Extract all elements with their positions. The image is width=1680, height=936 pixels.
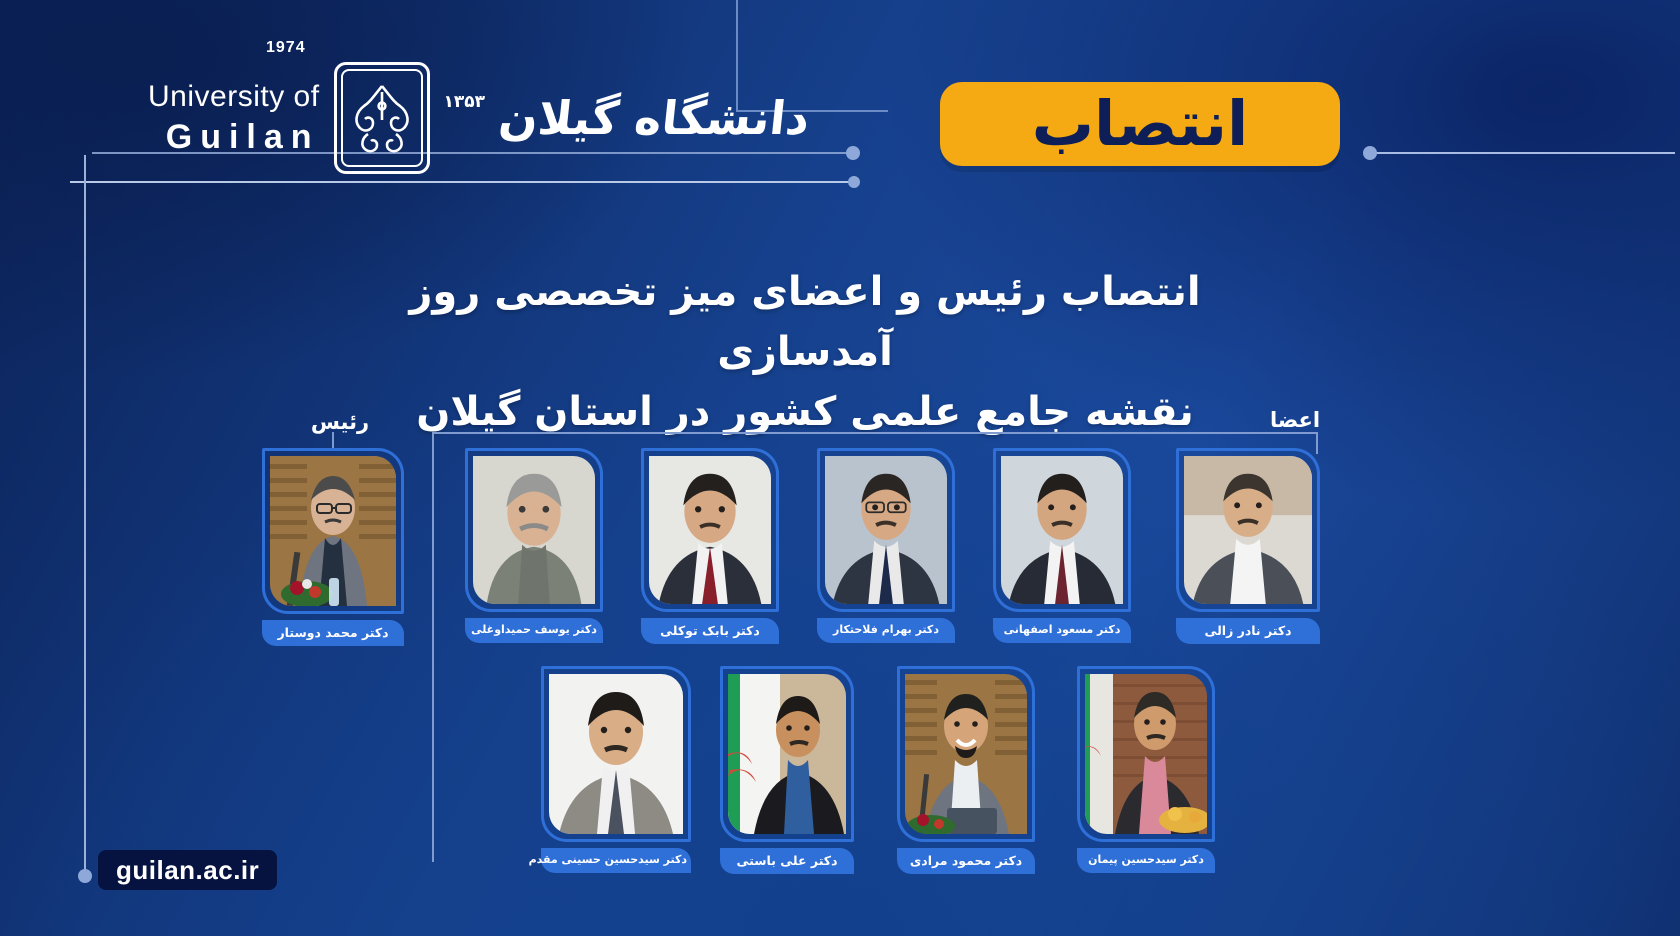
person-photo [825, 456, 947, 604]
logo-line-university-of: University of [148, 82, 320, 112]
person-card-member-2: دکتر بابک توکلی [641, 448, 779, 644]
person-photo [473, 456, 595, 604]
person-card-chair: دکتر محمد دوستار [262, 448, 404, 646]
logo-english-text: 1974 University of Guilan [148, 82, 320, 154]
section-label-chair: رئیس [290, 410, 390, 434]
person-photo-frame [1077, 666, 1215, 842]
person-card-member-1: دکتر یوسف حمیداوغلی [465, 448, 603, 643]
website-url-badge[interactable]: guilan.ac.ir [98, 850, 277, 890]
decor-dot-2 [848, 176, 860, 188]
person-photo [1184, 456, 1312, 604]
logo-line-guilan: Guilan [148, 120, 320, 154]
person-name-member-4: دکتر مسعود اصفهانی [993, 618, 1131, 643]
person-name-member-2: دکتر بابک توکلی [641, 618, 779, 644]
person-name-chair: دکتر محمد دوستار [262, 620, 404, 646]
person-photo-frame [641, 448, 779, 612]
page-title-line-1: انتصاب رئیس و اعضای میز تخصصی روز آمدساز… [330, 262, 1280, 382]
person-photo [270, 456, 396, 606]
decor-line-right [1375, 152, 1675, 154]
announcement-badge-label: انتصاب [1032, 93, 1249, 155]
person-photo [649, 456, 771, 604]
person-name-member-3: دکتر بهرام فلاحتکار [817, 618, 955, 643]
person-photo-frame [897, 666, 1035, 842]
person-photo-frame [262, 448, 404, 614]
person-card-member-4: دکتر مسعود اصفهانی [993, 448, 1131, 643]
person-photo-frame [1176, 448, 1320, 612]
person-photo [1085, 674, 1207, 834]
person-photo [905, 674, 1027, 834]
person-card-member-6: دکتر سیدحسین حسینی مقدم [541, 666, 691, 873]
person-name-member-7: دکتر علی باستی [720, 848, 854, 874]
person-card-member-8: دکتر محمود مرادی [897, 666, 1035, 874]
person-photo-frame [720, 666, 854, 842]
person-name-member-1: دکتر یوسف حمیداوغلی [465, 618, 603, 643]
person-photo [549, 674, 683, 834]
logo-persian-name: دانشگاه گیلان [497, 95, 812, 141]
person-photo [1001, 456, 1123, 604]
page-title: انتصاب رئیس و اعضای میز تخصصی روز آمدساز… [330, 262, 1280, 442]
decor-line-horizontal-1 [70, 181, 850, 183]
person-photo [728, 674, 846, 834]
logo-year-en: 1974 [266, 40, 306, 56]
section-label-members: اعضا [1240, 408, 1350, 432]
person-name-member-5: دکتر نادر زالی [1176, 618, 1320, 644]
decor-dot-right [1363, 146, 1377, 160]
person-photo-frame [465, 448, 603, 612]
decor-line-vertical-left [84, 155, 86, 845]
person-name-member-8: دکتر محمود مرادی [897, 848, 1035, 874]
person-card-member-3: دکتر بهرام فلاحتکار [817, 448, 955, 643]
person-name-member-9: دکتر سیدحسین پیمان [1077, 848, 1215, 873]
person-card-member-9: دکتر سیدحسین پیمان [1077, 666, 1215, 873]
person-photo-frame [541, 666, 691, 842]
university-logo: 1974 University of Guilan ۱۳۵۳ دانشگاه گ… [148, 62, 813, 174]
members-bracket-top [432, 432, 1318, 434]
guilan-emblem-icon [334, 62, 430, 174]
members-bracket-left [432, 432, 434, 862]
announcement-badge: انتصاب [940, 82, 1340, 166]
logo-year-fa: ۱۳۵۳ [444, 92, 486, 112]
person-photo-frame [993, 448, 1131, 612]
announcement-poster: 1974 University of Guilan ۱۳۵۳ دانشگاه گ… [0, 0, 1680, 936]
person-photo-frame [817, 448, 955, 612]
person-card-member-5: دکتر نادر زالی [1176, 448, 1320, 644]
person-card-member-7: دکتر علی باستی [720, 666, 854, 874]
website-url-text: guilan.ac.ir [116, 855, 259, 886]
person-name-member-6: دکتر سیدحسین حسینی مقدم [541, 848, 691, 873]
decor-dot-left [78, 869, 92, 883]
decor-dot-1 [846, 146, 860, 160]
